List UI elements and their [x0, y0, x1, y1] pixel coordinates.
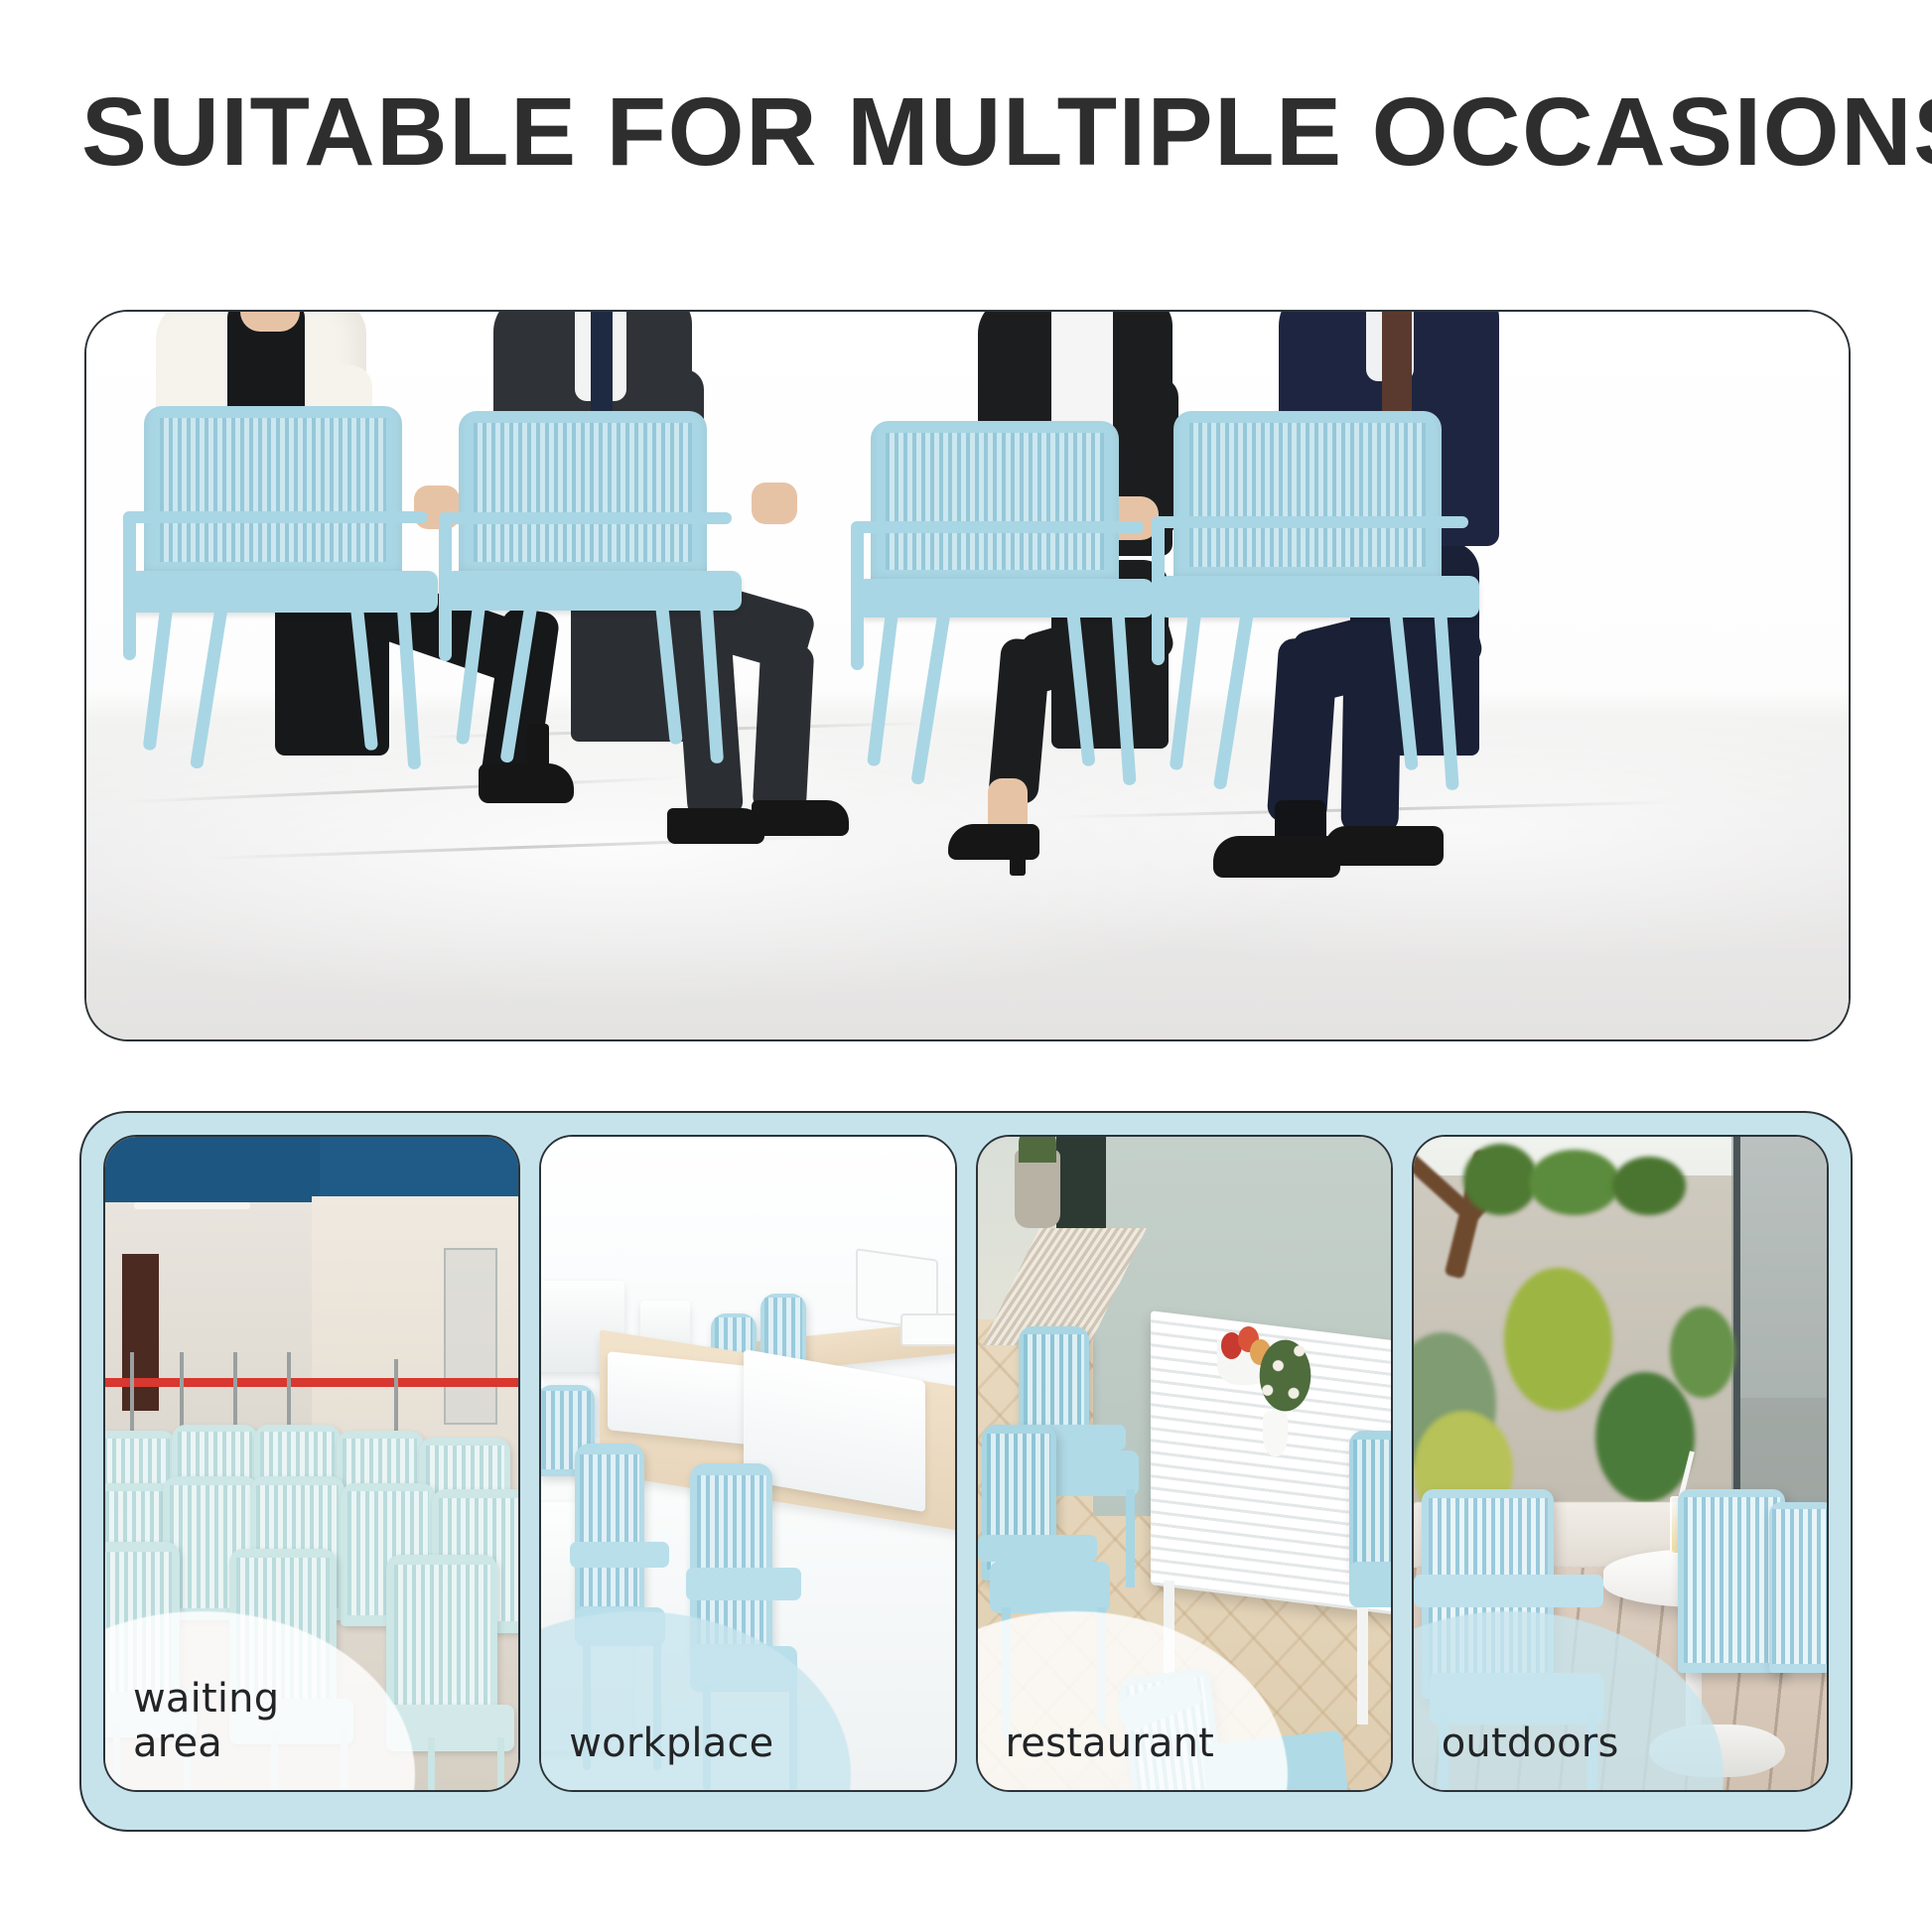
workplace-chair-1: [575, 1444, 645, 1620]
chair-armrest: [123, 511, 428, 523]
potted-plant: [1019, 1135, 1055, 1163]
person-3-heel: [1010, 828, 1026, 876]
hero-chair-2: [459, 411, 707, 719]
occasion-card-outdoors[interactable]: outdoors: [1412, 1135, 1829, 1792]
person-2-calf-2: [753, 643, 815, 815]
restaurant-chair-front-arm: [978, 1535, 1098, 1561]
desk-divider: [608, 1351, 757, 1446]
workplace-chair-2-arm: [686, 1568, 802, 1600]
person-4-shoe-2: [1324, 826, 1444, 866]
occasion-card-restaurant[interactable]: restaurant: [976, 1135, 1393, 1792]
product-feature-page: SUITABLE FOR MULTIPLE OCCASIONS: [0, 0, 1932, 1932]
wood-door: [122, 1254, 159, 1411]
occasion-label-outdoors: outdoors: [1442, 1722, 1619, 1766]
occasion-label-workplace: workplace: [569, 1722, 773, 1766]
chair-armrest: [1152, 516, 1468, 528]
occasion-label-restaurant: restaurant: [1006, 1722, 1215, 1766]
yellow-shrub: [1504, 1268, 1611, 1412]
person-1-shoe: [479, 763, 574, 803]
hero-chair-4: [1173, 411, 1442, 729]
foliage: [1463, 1144, 1538, 1215]
chair-seat: [856, 579, 1154, 619]
occasions-panel: waiting area: [79, 1111, 1853, 1832]
chair-backrest: [1173, 411, 1442, 583]
foliage: [1529, 1150, 1620, 1215]
flower-vase: [1263, 1411, 1288, 1456]
office-keyboard: [900, 1313, 956, 1346]
waiting-chair: [386, 1555, 497, 1719]
person-1-neck: [240, 310, 300, 332]
occasion-label-line-1: restaurant: [1006, 1722, 1215, 1766]
glass-door: [444, 1248, 497, 1425]
workplace-chair-1-arm: [570, 1542, 669, 1568]
occasion-card-waiting-area[interactable]: waiting area: [103, 1135, 520, 1792]
foliage: [1612, 1157, 1687, 1215]
page-title: SUITABLE FOR MULTIPLE OCCASIONS: [81, 83, 1904, 180]
occasion-label-line-1: workplace: [569, 1722, 773, 1766]
ceiling-light: [134, 1202, 250, 1209]
person-2-shoe: [667, 808, 764, 844]
restaurant-chair-right: [1349, 1431, 1393, 1575]
outdoor-chair-left-arm: [1414, 1575, 1603, 1607]
chair-seat: [1158, 576, 1479, 618]
occasion-label-waiting-area: waiting area: [133, 1677, 279, 1766]
hero-chair-1: [144, 406, 402, 724]
floor-sheen: [86, 719, 1849, 1039]
flower-arrangement: [1250, 1326, 1320, 1425]
red-queue-barrier: [105, 1378, 518, 1387]
chair-armrest: [851, 521, 1144, 533]
person-2-hand-2: [752, 483, 797, 524]
waiting-chair-leg: [497, 1737, 504, 1792]
restaurant-chair-front-seat: [990, 1562, 1110, 1614]
shrub: [1670, 1307, 1736, 1398]
hero-chair-3: [871, 421, 1119, 724]
chair-armrest: [439, 512, 732, 524]
chair-backrest: [144, 406, 402, 578]
restaurant-chair-right-seat: [1349, 1562, 1393, 1607]
chair-backrest: [459, 411, 707, 577]
occasion-card-workplace[interactable]: workplace: [539, 1135, 956, 1792]
occasion-label-line-1: outdoors: [1442, 1722, 1619, 1766]
waiting-chair-leg: [428, 1737, 435, 1792]
person-2-shoe-2: [752, 800, 849, 836]
person-4-shoe: [1213, 836, 1340, 878]
person-4-tie: [1382, 310, 1412, 427]
occasion-label-line-2: area: [133, 1722, 279, 1766]
person-3-shoe: [948, 824, 1039, 860]
hero-panel: [84, 310, 1851, 1041]
occasion-label-line-1: waiting: [133, 1677, 279, 1722]
restaurant-chair-leg: [1126, 1489, 1135, 1587]
chair-seat: [128, 571, 438, 613]
shrub: [1595, 1372, 1695, 1503]
chair-seat: [444, 571, 742, 611]
person-1-heel: [527, 724, 549, 775]
chair-backrest: [871, 421, 1119, 585]
outdoor-chair-far: [1769, 1502, 1829, 1672]
glass-facade: [1731, 1137, 1827, 1542]
